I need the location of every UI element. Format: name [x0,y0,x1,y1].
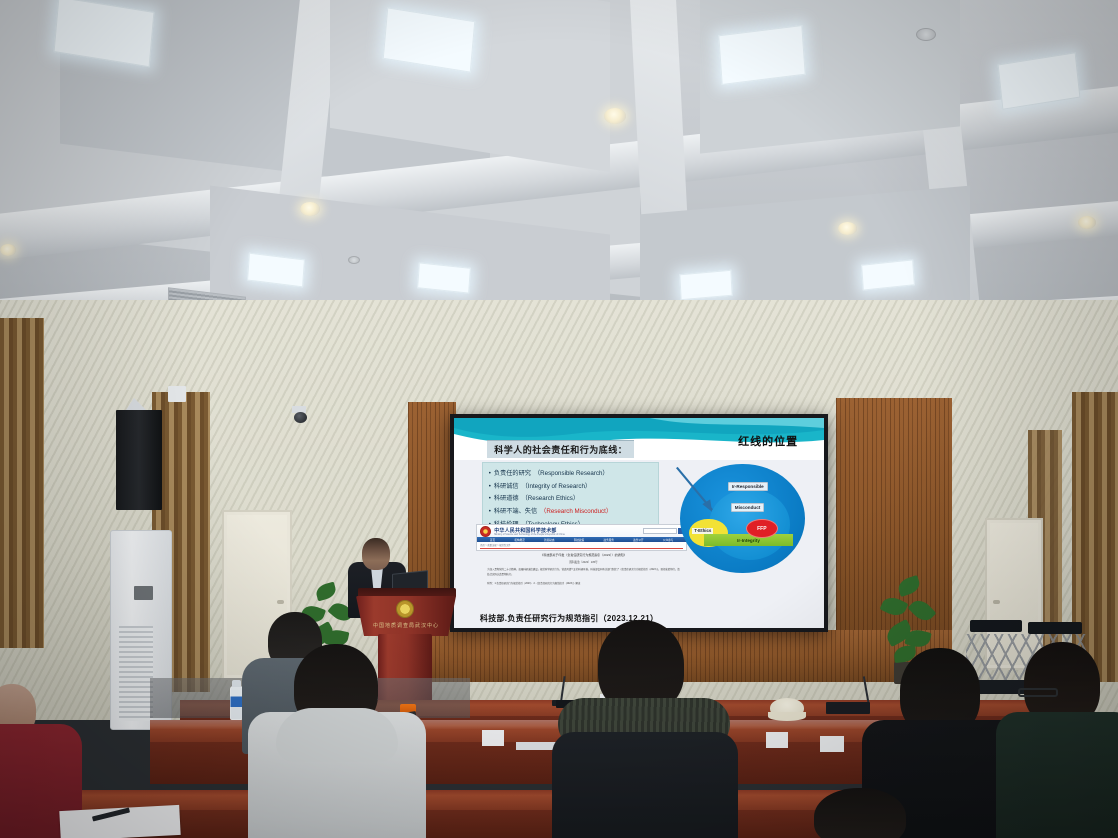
person-head [814,788,906,838]
website-title-block: 中华人民共和国科学技术部 Ministry of Science and Tec… [494,527,565,536]
bullet-cn: 负责任的研究 [494,468,531,480]
person-body [552,732,738,838]
national-emblem-icon [480,526,491,537]
document-subtitle: 国科发监〔2023〕135号 [487,560,679,564]
lectern-text: 中国地质调查局武汉中心 [362,622,450,629]
list-item: • 科研诚信 （Integrity of Research） [489,481,653,494]
red-line-diagram: Ir-Integrity Ir-Responsible Misconduct F… [669,454,817,584]
nav-item[interactable]: 政务公开 [633,538,643,542]
nav-item[interactable]: 机构概况 [514,538,524,542]
projection-screen: 科学人的社会责任和行为底线： 红线的位置 • 负责任的研究 （Responsib… [450,414,828,632]
cap-brim [768,712,806,721]
audience-person-right-glasses [1000,642,1118,838]
nav-item[interactable]: 首页 [490,538,495,542]
ac-display [134,586,153,600]
nav-item[interactable]: 新闻动态 [544,538,554,542]
website-header: 中华人民共和国科学技术部 Ministry of Science and Tec… [477,525,686,537]
bullet-dot: • [489,507,491,519]
document-body: 为深入贯彻党的二十大精神，加强科研诚信建设，规范科学研究行为，营造风清气正的科研… [487,568,679,576]
document-title: 《科技部关于印发〈负责任研究行为规范指引（2023）〉的通知》 [487,553,679,557]
nav-item[interactable]: 科技政策 [574,538,584,542]
bullet-dot: • [489,482,491,494]
bullet-cn: 科研不端、失信 [494,506,537,518]
door-knob-right [993,600,1000,604]
slide-header-right: 红线的位置 [738,433,798,449]
slide-content: 科学人的社会责任和行为底线： 红线的位置 • 负责任的研究 （Responsib… [454,418,824,628]
slide-header-left: 科学人的社会责任和行为底线： [487,440,634,458]
document-attachments: 附件：1.负责任研究行为规范指引（2023） 2.《负责任研究行为规范指引（20… [487,582,679,586]
bullet-dot: • [489,469,491,481]
name-card-right [820,736,844,752]
pointer-arrow-icon [669,454,817,584]
glasses-icon [1018,688,1058,697]
embedded-website-screenshot: 中华人民共和国科学技术部 Ministry of Science and Tec… [476,524,687,551]
list-item: • 负责任的研究 （Responsible Research） [489,468,653,481]
bullet-dot: • [489,494,491,506]
divider [480,548,683,549]
curtain-left-far [0,318,44,648]
speaker-head [362,538,390,570]
website-title-cn: 中华人民共和国科学技术部 [494,527,565,534]
name-card-mid [766,732,788,748]
wall-box-white [168,386,186,402]
wall-speaker [116,410,162,510]
list-item: • 科研道德 （Research Ethics） [489,493,653,506]
cctv-dome-icon [294,412,307,423]
conference-room-photo: 科学人的社会责任和行为底线： 红线的位置 • 负责任的研究 （Responsib… [0,0,1118,838]
bullet-en: （Integrity of Research） [522,481,591,493]
audience-person-bottom-center [800,788,920,838]
ac-grille [119,626,153,721]
lectern-emblem-icon [396,600,414,618]
audience-person-white-jacket [236,650,436,838]
nav-item[interactable]: 政务服务 [604,538,614,542]
audience-person-fur-collar [552,620,742,838]
person-body [996,712,1118,838]
bullet-en: （Research Ethics） [522,493,579,505]
bullet-cn: 科研道德 [494,493,519,505]
embedded-document: 《科技部关于印发〈负责任研究行为规范指引（2023）〉的通知》 国科发监〔202… [487,553,679,585]
bullet-en: （Research Misconduct） [540,506,612,518]
name-card-left [482,730,504,746]
list-item: • 科研不端、失信 （Research Misconduct） [489,506,653,519]
jacket-hood [276,708,398,762]
website-title-en: Ministry of Science and Technology of th… [494,534,565,536]
bullet-en: （Responsible Research） [534,468,609,480]
bullet-cn: 科研诚信 [494,481,519,493]
door-knob-left [277,600,284,604]
